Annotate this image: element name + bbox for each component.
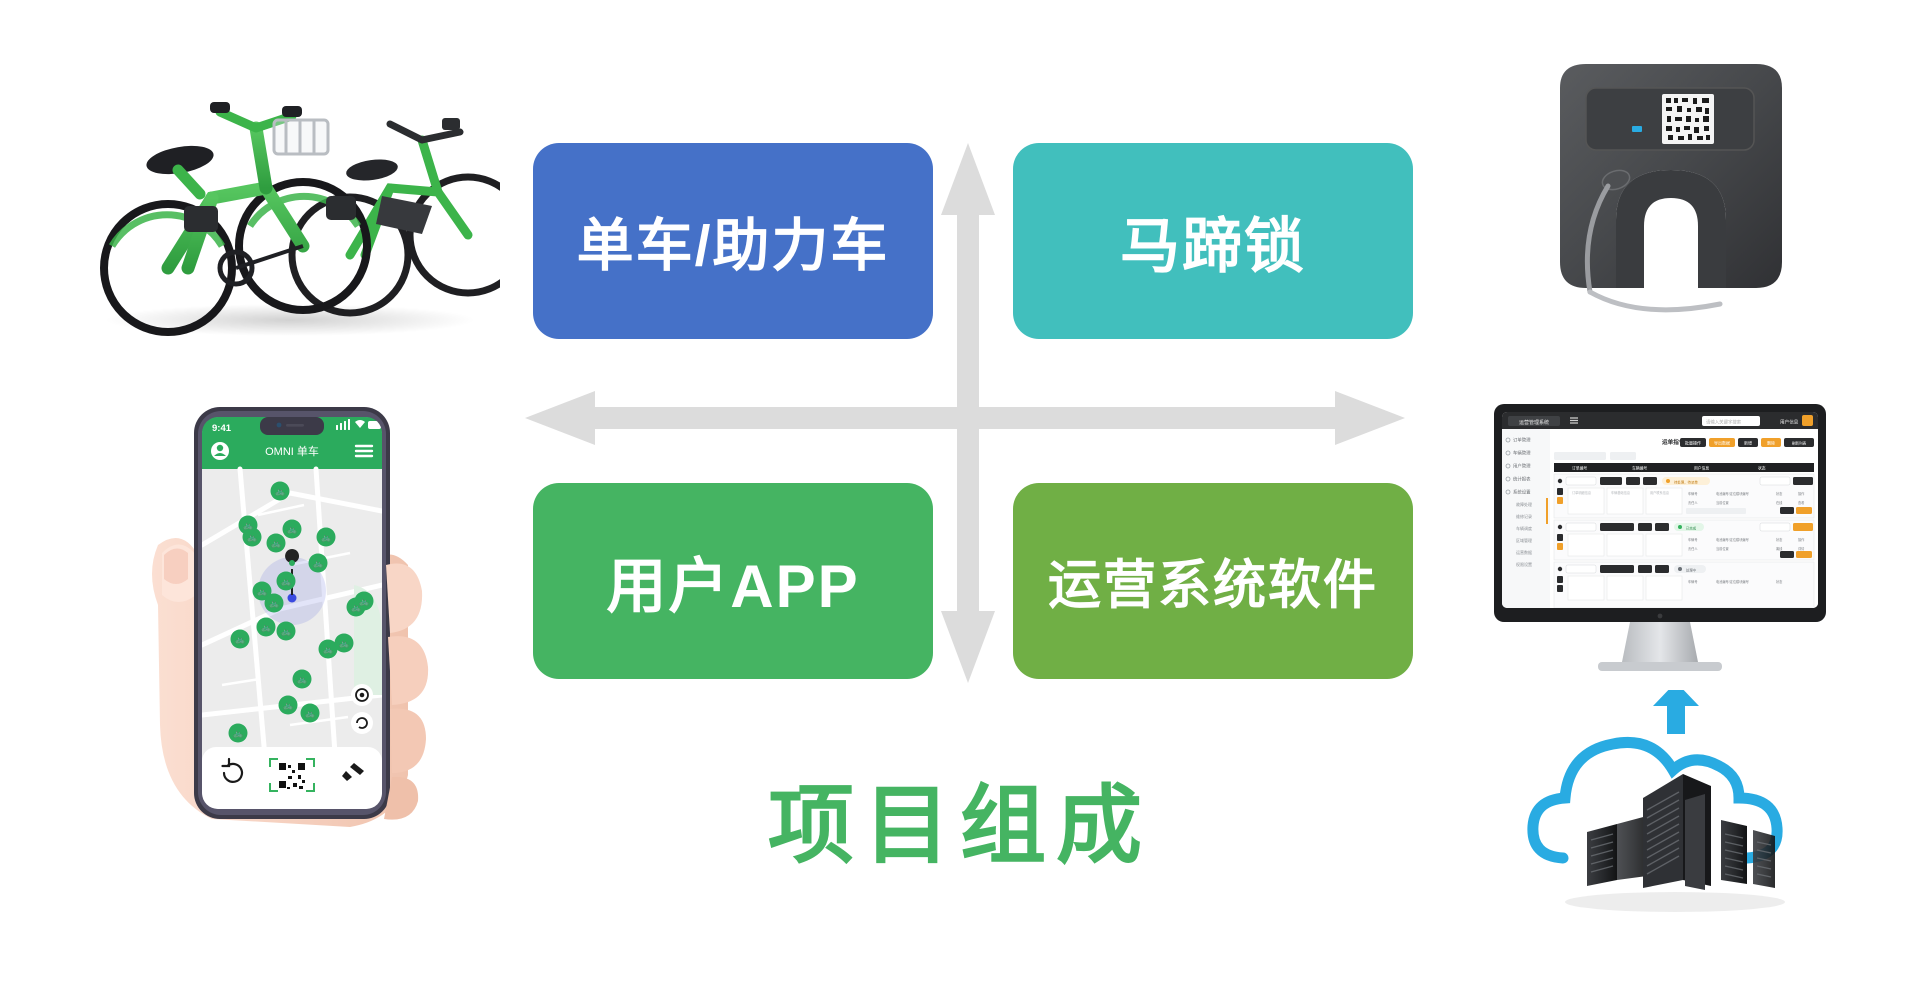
card-operation-software[interactable]: 运营系统软件 (1013, 483, 1413, 679)
svg-text:🚲: 🚲 (297, 675, 307, 684)
svg-text:删除: 删除 (1767, 439, 1775, 445)
svg-text:状态: 状态 (1776, 491, 1783, 496)
svg-text:电池编号/定位模块编号: 电池编号/定位模块编号 (1716, 579, 1749, 584)
svg-text:🚲: 🚲 (305, 709, 315, 718)
operation-system-monitor-photo: 运营管理系统 请输入关键字搜索 用户信息 订单管理 车辆管理 用户管理 统计报表… (1480, 400, 1840, 700)
svg-text:状态: 状态 (1776, 579, 1783, 584)
svg-text:用户联系信息: 用户联系信息 (1650, 490, 1669, 495)
svg-text:操作: 操作 (1798, 491, 1805, 496)
svg-text:系统设置: 系统设置 (1513, 489, 1531, 496)
svg-text:🚲: 🚲 (233, 729, 243, 738)
svg-text:详情: 详情 (1798, 546, 1805, 551)
svg-text:责任人: 责任人 (1688, 500, 1698, 505)
svg-text:🚲: 🚲 (257, 587, 267, 596)
svg-text:🚲: 🚲 (339, 639, 349, 648)
svg-text:🚲: 🚲 (247, 533, 257, 542)
svg-text:🚲: 🚲 (323, 645, 333, 654)
lock-led-indicator (1632, 126, 1642, 132)
project-composition-diagram: 9:41 OMNI 单车 (0, 0, 1920, 997)
svg-text:状态: 状态 (1758, 465, 1766, 470)
svg-text:电池编号/定位模块编号: 电池编号/定位模块编号 (1716, 491, 1749, 496)
svg-text:订单编号: 订单编号 (1572, 465, 1587, 470)
admin-brand-text: 运营管理系统 (1519, 419, 1549, 426)
svg-text:故障处理: 故障处理 (1516, 501, 1532, 507)
svg-text:🚲: 🚲 (283, 701, 293, 710)
svg-text:用户管理: 用户管理 (1513, 463, 1531, 470)
card-bike[interactable]: 单车/助力车 (533, 143, 933, 339)
svg-text:车辆管理: 车辆管理 (1513, 450, 1531, 457)
svg-text:用户信息: 用户信息 (1780, 419, 1799, 426)
svg-text:已完成: 已完成 (1686, 525, 1697, 530)
vertical-double-arrow (933, 143, 1003, 683)
svg-text:🚲: 🚲 (271, 539, 281, 548)
svg-text:待处理，待派单: 待处理，待派单 (1674, 479, 1698, 484)
card-lock-label: 马蹄锁 (1120, 198, 1306, 285)
svg-text:🚲: 🚲 (321, 533, 331, 542)
svg-text:订单管理: 订单管理 (1513, 437, 1531, 444)
svg-text:🚲: 🚲 (269, 599, 279, 608)
svg-text:统计报表: 统计报表 (1513, 476, 1531, 483)
smart-horseshoe-lock-photo (1520, 30, 1820, 330)
svg-text:权限设置: 权限设置 (1516, 561, 1532, 567)
card-user-app-label: 用户APP (606, 538, 859, 625)
svg-text:当前位置: 当前位置 (1716, 546, 1729, 551)
admin-table-rows: 待处理，待派单 订单明细信息车辆基础信息用户联系信息 车辆号电池编号/定位模块编… (1554, 474, 1814, 608)
svg-text:状态: 状态 (1776, 537, 1783, 542)
svg-text:🚲: 🚲 (261, 623, 271, 632)
svg-text:9:41: 9:41 (212, 423, 232, 434)
card-operation-software-label: 运营系统软件 (1048, 543, 1378, 619)
svg-text:区域管理: 区域管理 (1516, 537, 1532, 543)
svg-text:操作: 操作 (1798, 537, 1805, 542)
svg-text:运营数据: 运营数据 (1516, 549, 1532, 555)
svg-text:用户信息: 用户信息 (1694, 465, 1709, 470)
svg-text:🚲: 🚲 (281, 627, 291, 636)
card-bike-label: 单车/助力车 (577, 200, 890, 282)
svg-text:车辆号: 车辆号 (1688, 537, 1698, 542)
svg-text:查看: 查看 (1798, 500, 1804, 505)
svg-text:🚲: 🚲 (287, 525, 297, 534)
svg-text:🚲: 🚲 (313, 559, 323, 568)
svg-text:导出数据: 导出数据 (1714, 439, 1730, 445)
svg-text:批量操作: 批量操作 (1685, 439, 1701, 445)
svg-text:🚲: 🚲 (275, 487, 285, 496)
svg-text:新增: 新增 (1744, 439, 1752, 445)
svg-text:🚲: 🚲 (235, 635, 245, 644)
svg-text:请输入关键字搜索: 请输入关键字搜索 (1706, 419, 1742, 426)
svg-text:车辆基础信息: 车辆基础信息 (1611, 490, 1630, 495)
card-user-app[interactable]: 用户APP (533, 483, 933, 679)
svg-text:当前位置: 当前位置 (1716, 500, 1729, 505)
svg-text:责任人: 责任人 (1688, 546, 1698, 551)
svg-text:🚲: 🚲 (243, 521, 253, 530)
svg-text:🚲: 🚲 (281, 577, 291, 586)
svg-text:车辆号: 车辆号 (1688, 579, 1698, 584)
svg-text:离线: 离线 (1776, 546, 1783, 551)
svg-text:车辆调度: 车辆调度 (1516, 525, 1532, 531)
svg-text:车辆编号: 车辆编号 (1632, 465, 1647, 470)
svg-text:车辆号: 车辆号 (1688, 491, 1698, 496)
svg-text:🚲: 🚲 (359, 597, 369, 606)
svg-text:电池编号/定位模块编号: 电池编号/定位模块编号 (1716, 537, 1749, 542)
card-lock[interactable]: 马蹄锁 (1013, 143, 1413, 339)
svg-text:维修记录: 维修记录 (1516, 513, 1532, 519)
page-title: 项目组成 (0, 755, 1920, 880)
svg-text:刷新列表: 刷新列表 (1792, 440, 1807, 445)
shared-bicycles-photo (60, 20, 500, 340)
svg-text:在线: 在线 (1776, 500, 1783, 505)
svg-text:处理中: 处理中 (1686, 567, 1697, 572)
app-title-text: OMNI 单车 (265, 444, 319, 458)
svg-text:订单明细信息: 订单明细信息 (1572, 490, 1591, 495)
